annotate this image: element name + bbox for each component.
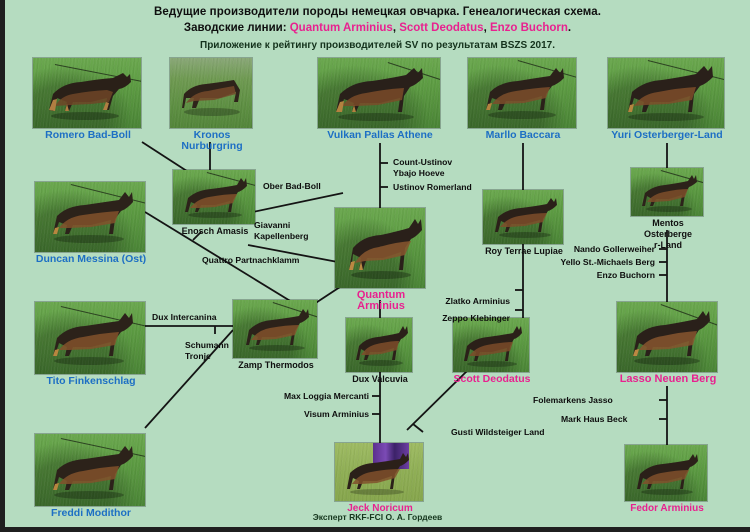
annotation-nando-gollerweiher: Nando Gollerweiher bbox=[545, 244, 655, 255]
german-shepherd-silhouette bbox=[468, 58, 576, 128]
dog-card-freddi-modithor[interactable]: Freddi Modithor bbox=[35, 434, 147, 519]
annotation-zeppo-klebinger: Zeppo Klebinger bbox=[420, 313, 510, 324]
dog-card-quantum-arminius[interactable]: Quantum Arminius bbox=[335, 208, 427, 312]
title-line-2: Заводские линии: Quantum Arminius, Scott… bbox=[5, 20, 750, 36]
annotation-visum-arminius: Visum Arminius bbox=[267, 409, 369, 420]
german-shepherd-silhouette bbox=[318, 58, 440, 128]
annotation-ustinov-romerland: Ustinov Romerland bbox=[393, 182, 472, 193]
dog-label-marllo-baccara: Marllo Baccara bbox=[468, 128, 578, 141]
dog-card-duncan-messina-ost[interactable]: Duncan Messina (Ost) bbox=[35, 182, 147, 265]
dog-photo-scott-deodatus bbox=[453, 318, 529, 372]
dog-card-enosch-amasis[interactable]: Enosch Amasis bbox=[173, 170, 257, 237]
dog-photo-lasso-neuen-berg bbox=[617, 302, 717, 372]
dog-card-jeck-noricum[interactable]: Jeck Noricum bbox=[335, 443, 425, 514]
line-enzo-buchorn: Enzo Buchorn bbox=[490, 22, 568, 34]
dog-card-lasso-neuen-berg[interactable]: Lasso Neuen Berg bbox=[617, 302, 719, 385]
german-shepherd-silhouette bbox=[625, 445, 707, 501]
german-shepherd-silhouette bbox=[35, 302, 145, 374]
dog-card-marllo-baccara[interactable]: Marllo Baccara bbox=[468, 58, 578, 141]
dog-photo-mentos-osterberger-land bbox=[631, 168, 703, 216]
annotation-ybajo-hoeve: Ybajo Hoeve bbox=[393, 168, 445, 179]
dog-photo-tito-finkenschlag bbox=[35, 302, 145, 374]
breeding-lines-label: Заводские линии: bbox=[184, 22, 290, 34]
dog-label-vulkan-pallas-athene: Vulkan Pallas Athene bbox=[318, 128, 442, 141]
german-shepherd-silhouette bbox=[335, 443, 423, 501]
title-line-3: Приложение к рейтингу производителей SV … bbox=[5, 38, 750, 54]
dog-photo-romero-bad-boll bbox=[33, 58, 141, 128]
dog-card-romero-bad-boll[interactable]: Romero Bad-Boll bbox=[33, 58, 143, 141]
dog-label-duncan-messina-ost: Duncan Messina (Ost) bbox=[35, 252, 147, 265]
german-shepherd-silhouette bbox=[173, 170, 255, 224]
dog-card-scott-deodatus[interactable]: Scott Deodatus bbox=[453, 318, 531, 385]
dog-card-dux-valcuvia[interactable]: Dux Valcuvia bbox=[346, 318, 414, 385]
dog-photo-jeck-noricum bbox=[335, 443, 423, 501]
annotation-quattro-partnachklamm: Quattro Partnachklamm bbox=[202, 255, 299, 266]
dog-label-yuri-osterberger-land: Yuri Osterberger-Land bbox=[608, 128, 726, 141]
dog-photo-quantum-arminius bbox=[335, 208, 425, 288]
german-shepherd-silhouette bbox=[346, 318, 412, 372]
annotation-max-loggia-mercanti: Max Loggia Mercanti bbox=[267, 391, 369, 402]
line-scott-deodatus: Scott Deodatus bbox=[399, 22, 483, 34]
german-shepherd-silhouette bbox=[631, 168, 703, 216]
dog-photo-enosch-amasis bbox=[173, 170, 255, 224]
dog-label-dux-valcuvia: Dux Valcuvia bbox=[346, 372, 414, 385]
annotation-ober-bad-boll: Ober Bad-Boll bbox=[263, 181, 321, 192]
annotation-folemarkens-jasso: Folemarkens Jasso bbox=[533, 395, 613, 406]
dog-label-tito-finkenschlag: Tito Finkenschlag bbox=[35, 374, 147, 387]
dog-label-romero-bad-boll: Romero Bad-Boll bbox=[33, 128, 143, 141]
dog-photo-fedor-arminius bbox=[625, 445, 707, 501]
line-quantum-arminius: Quantum Arminius bbox=[290, 22, 393, 34]
dog-card-kronos-nurburgring[interactable]: Kronos Nurburgring bbox=[170, 58, 254, 152]
dog-label-scott-deodatus: Scott Deodatus bbox=[453, 372, 531, 385]
german-shepherd-silhouette bbox=[453, 318, 529, 372]
dog-label-enosch-amasis: Enosch Amasis bbox=[173, 224, 257, 237]
german-shepherd-silhouette bbox=[483, 190, 563, 244]
dog-photo-kronos-nurburgring bbox=[170, 58, 252, 128]
annotation-mark-haus-beck: Mark Haus Beck bbox=[561, 414, 627, 425]
dog-photo-duncan-messina-ost bbox=[35, 182, 145, 252]
annotation-schumann-tronje: Schumann Tronje bbox=[185, 340, 229, 362]
annotation-zlatko-arminius: Zlatko Arminius bbox=[420, 296, 510, 307]
dog-label-lasso-neuen-berg: Lasso Neuen Berg bbox=[617, 372, 719, 385]
german-shepherd-silhouette bbox=[335, 208, 425, 288]
german-shepherd-silhouette bbox=[608, 58, 724, 128]
dog-card-yuri-osterberger-land[interactable]: Yuri Osterberger-Land bbox=[608, 58, 726, 141]
german-shepherd-silhouette bbox=[35, 434, 145, 506]
title-line-1: Ведущие производители породы немецкая ов… bbox=[5, 4, 750, 20]
german-shepherd-silhouette bbox=[617, 302, 717, 372]
annotation-giavanni-kapellenberg: Giavanni Kapellenberg bbox=[254, 220, 308, 242]
dog-label-kronos-nurburgring: Kronos Nurburgring bbox=[170, 128, 254, 152]
chart-title-block: Ведущие производители породы немецкая ов… bbox=[5, 4, 750, 54]
german-shepherd-silhouette bbox=[170, 58, 252, 128]
genealogy-chart: Ведущие производители породы немецкая ов… bbox=[0, 0, 750, 532]
dog-card-fedor-arminius[interactable]: Fedor Arminius bbox=[625, 445, 709, 514]
dog-photo-freddi-modithor bbox=[35, 434, 145, 506]
dog-photo-vulkan-pallas-athene bbox=[318, 58, 440, 128]
annotation-enzo-buchorn: Enzo Buchorn bbox=[545, 270, 655, 281]
title-period: . bbox=[568, 22, 571, 34]
dog-photo-dux-valcuvia bbox=[346, 318, 412, 372]
dog-photo-marllo-baccara bbox=[468, 58, 576, 128]
dog-label-quantum-arminius: Quantum Arminius bbox=[335, 288, 427, 312]
annotation-dux-intercanina: Dux Intercanina bbox=[152, 312, 216, 323]
annotation-gusti-wildsteiger-land: Gusti Wildsteiger Land bbox=[451, 427, 545, 438]
dog-card-zamp-thermodos[interactable]: Zamp Thermodos bbox=[233, 300, 319, 371]
dog-label-zamp-thermodos: Zamp Thermodos bbox=[233, 358, 319, 371]
german-shepherd-silhouette bbox=[35, 182, 145, 252]
dog-photo-roy-terrae-lupiae bbox=[483, 190, 563, 244]
dog-card-mentos-osterberger-land[interactable]: Mentos Osterberge r-Land bbox=[631, 168, 705, 251]
annotation-yello-st-michaels-berg: Yello St.-Michaels Berg bbox=[515, 257, 655, 268]
dog-photo-zamp-thermodos bbox=[233, 300, 317, 358]
german-shepherd-silhouette bbox=[33, 58, 141, 128]
dog-card-tito-finkenschlag[interactable]: Tito Finkenschlag bbox=[35, 302, 147, 387]
expert-credit: Эксперт RKF-FCI О. А. Гордеев bbox=[5, 512, 750, 522]
german-shepherd-silhouette bbox=[233, 300, 317, 358]
dog-photo-yuri-osterberger-land bbox=[608, 58, 724, 128]
annotation-count-ustinov: Count-Ustinov bbox=[393, 157, 452, 168]
dog-card-vulkan-pallas-athene[interactable]: Vulkan Pallas Athene bbox=[318, 58, 442, 141]
